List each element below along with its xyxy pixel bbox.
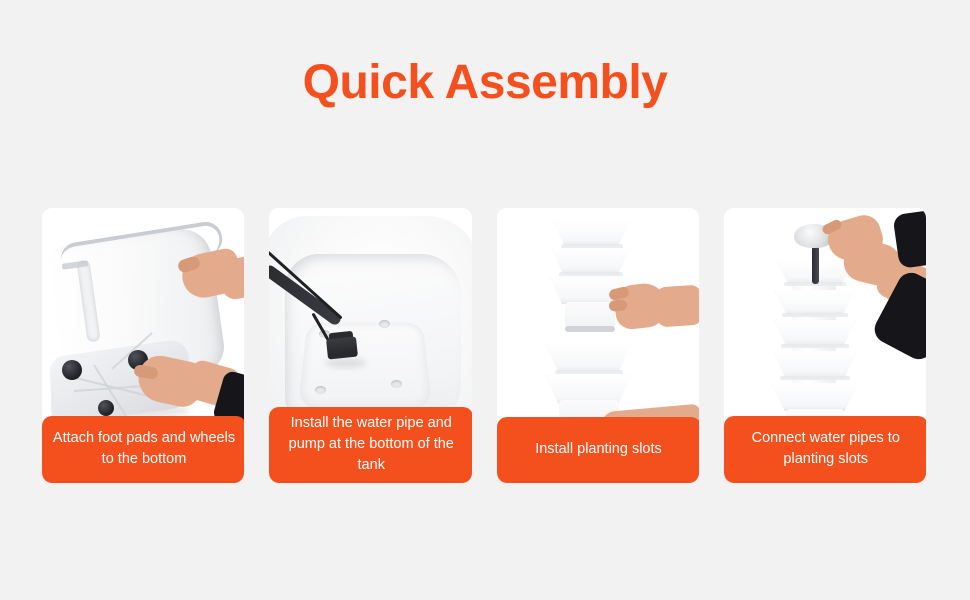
tank-floor-icon bbox=[298, 322, 433, 408]
assembly-infographic: Quick Assembly bbox=[0, 0, 970, 600]
forearm-icon bbox=[653, 284, 699, 327]
step-caption-3: Install planting slots bbox=[497, 417, 699, 483]
planting-slot-icon bbox=[773, 320, 857, 346]
planting-slot-icon bbox=[774, 290, 856, 315]
planting-slot-icon bbox=[551, 248, 631, 274]
water-pump-icon bbox=[326, 336, 358, 359]
step-caption-1: Attach foot pads and wheels to the botto… bbox=[42, 416, 244, 483]
step-caption-4: Connect water pipes to planting slots bbox=[724, 416, 926, 483]
step-card-3: Install planting slots bbox=[497, 208, 699, 483]
step-caption-2: Install the water pipe and pump at the b… bbox=[269, 407, 471, 483]
step-card-4: Connect water pipes to planting slots bbox=[724, 208, 926, 483]
step-card-1: Attach foot pads and wheels to the botto… bbox=[42, 208, 244, 483]
planting-slot-icon bbox=[545, 344, 633, 372]
wheel-icon bbox=[62, 360, 82, 380]
finger-icon bbox=[608, 299, 627, 312]
planting-slot-icon bbox=[772, 351, 858, 378]
planting-slot-icon bbox=[771, 383, 859, 411]
page-title: Quick Assembly bbox=[0, 54, 970, 112]
planting-slot-collar-icon bbox=[565, 302, 615, 328]
foot-pad-icon bbox=[98, 400, 114, 416]
step-card-2: Install the water pipe and pump at the b… bbox=[269, 208, 471, 483]
water-pipe-icon bbox=[812, 246, 819, 284]
planting-slot-icon bbox=[553, 220, 631, 246]
steps-row: Attach foot pads and wheels to the botto… bbox=[42, 208, 926, 483]
